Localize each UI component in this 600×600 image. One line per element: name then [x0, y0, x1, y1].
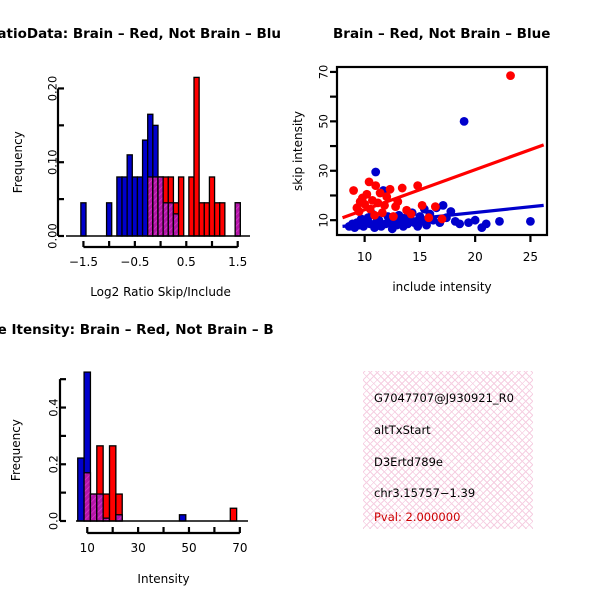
- x-tick-label: 15: [412, 250, 427, 264]
- histogram-bar: [110, 446, 116, 521]
- x-axis-label: Log2 Ratio Skip/Include: [90, 285, 231, 299]
- y-axis-label: Frequency: [11, 131, 25, 193]
- scatter-point: [439, 201, 448, 210]
- scatter-point: [407, 210, 416, 219]
- y-tick-label: 50: [317, 114, 331, 129]
- histogram-bar-overlap: [163, 203, 168, 236]
- info-event-type: altTxStart: [374, 423, 431, 437]
- scatter-point: [506, 71, 515, 80]
- histogram-bar: [127, 155, 132, 236]
- gene-info-panel: G7047707@J930921_R0 altTxStart D3Ertd789…: [363, 371, 533, 529]
- ratio-histogram-svg: 0.000.100.20Frequency−1.5−0.50.51.5Log2 …: [0, 60, 290, 300]
- histogram-bar: [179, 177, 184, 236]
- scatter-point: [424, 213, 433, 222]
- histogram-bar: [194, 77, 199, 236]
- histogram-bar: [230, 508, 236, 521]
- y-tick-label: 0.10: [46, 149, 60, 175]
- histogram-bar: [179, 515, 185, 521]
- histogram-bar-overlap: [116, 515, 122, 521]
- histogram-bar: [117, 177, 122, 236]
- histogram-bar: [143, 140, 148, 236]
- histogram-bar-overlap: [97, 494, 103, 521]
- histogram-bar: [122, 177, 127, 236]
- scatter-point: [393, 197, 402, 206]
- histogram-bar-overlap: [90, 494, 96, 521]
- scatter-point: [482, 219, 491, 228]
- scatter-point: [371, 181, 380, 190]
- scatter-point: [446, 207, 455, 216]
- histogram-bar: [137, 177, 142, 236]
- y-tick-label: 0.4: [47, 398, 61, 416]
- histogram-bar-overlap: [148, 177, 153, 236]
- y-tick-label: 0.20: [46, 76, 60, 102]
- x-tick-label: 1.5: [228, 255, 247, 269]
- scatter-point: [398, 184, 407, 193]
- x-tick-label: −1.5: [69, 255, 98, 269]
- scatter-panel: 10305070skip intensity10152025include in…: [290, 55, 600, 300]
- info-gene-symbol: D3Ertd789e: [374, 455, 443, 469]
- x-tick-label: 10: [80, 541, 95, 555]
- scatter-point: [471, 216, 480, 225]
- histogram-bar-overlap: [153, 177, 158, 236]
- ratio-histogram-panel: 0.000.100.20Frequency−1.5−0.50.51.5Log2 …: [0, 60, 290, 300]
- scatter-point: [371, 168, 380, 177]
- histogram-bar: [199, 203, 204, 236]
- x-tick-label: 50: [181, 541, 196, 555]
- histogram-bar: [78, 458, 84, 521]
- histogram-bar: [189, 177, 194, 236]
- histogram-bar-overlap: [158, 177, 163, 236]
- x-tick-label: 0.5: [177, 255, 196, 269]
- histogram-bar: [209, 177, 214, 236]
- scatter-point: [380, 201, 389, 210]
- x-tick-label: −0.5: [120, 255, 149, 269]
- histogram-bar: [132, 177, 137, 236]
- x-axis-label: Intensity: [137, 572, 189, 586]
- histogram-bar: [107, 203, 112, 236]
- scatter-svg: 10305070skip intensity10152025include in…: [290, 55, 600, 300]
- scatter-point: [495, 217, 504, 226]
- y-tick-label: 0.0: [47, 512, 61, 530]
- scatter-point: [526, 217, 535, 226]
- info-probe-id: G7047707@J930921_R0: [374, 391, 514, 405]
- histogram-bar: [204, 203, 209, 236]
- scatter-point: [413, 181, 422, 190]
- gene-intensity-histogram-svg: 0.00.20.4Frequency10305070Intensity: [0, 355, 290, 600]
- histogram-bar-overlap: [173, 214, 178, 236]
- histogram-bar: [81, 203, 86, 236]
- scatter-point: [370, 211, 379, 220]
- scatter-point: [455, 219, 464, 228]
- scatter-point: [460, 117, 469, 126]
- scatter-point: [378, 208, 387, 217]
- scatter-point: [418, 201, 427, 210]
- x-tick-label: 70: [232, 541, 247, 555]
- scatter-point: [431, 202, 440, 211]
- scatter-point: [349, 186, 358, 195]
- scatter-point: [355, 207, 364, 216]
- y-tick-label: 70: [317, 65, 331, 80]
- x-tick-label: 30: [130, 541, 145, 555]
- info-pval: Pval: 2.000000: [374, 510, 460, 524]
- histogram-bar: [103, 494, 109, 521]
- y-tick-label: 10: [317, 213, 331, 228]
- scatter-title: Brain – Red, Not Brain – Blue: [333, 26, 550, 42]
- scatter-point: [386, 185, 395, 194]
- x-tick-label: 10: [357, 250, 372, 264]
- x-tick-label: 25: [523, 250, 538, 264]
- info-locus: chr3.15757−1.39: [374, 486, 475, 500]
- gene-intensity-histogram-panel: 0.00.20.4Frequency10305070Intensity: [0, 355, 290, 600]
- x-axis-label: include intensity: [392, 280, 491, 294]
- histogram-bar-overlap: [168, 203, 173, 236]
- y-axis-label: Frequency: [9, 419, 23, 481]
- ratio-histogram-title: RatioData: Brain – Red, Not Brain – Blu: [0, 26, 281, 42]
- histogram-bar-overlap: [84, 473, 90, 521]
- histogram-bar: [215, 203, 220, 236]
- scatter-point: [438, 215, 447, 224]
- y-tick-label: 0.00: [46, 223, 60, 249]
- y-tick-label: 0.2: [47, 455, 61, 473]
- x-tick-label: 20: [468, 250, 483, 264]
- y-axis-label: skip intensity: [291, 111, 305, 191]
- histogram-bar-overlap: [235, 203, 240, 236]
- gene-intensity-histogram-title: ne Itensity: Brain – Red, Not Brain – B: [0, 322, 274, 338]
- y-tick-label: 30: [317, 163, 331, 178]
- scatter-point: [389, 212, 398, 221]
- histogram-bar: [220, 203, 225, 236]
